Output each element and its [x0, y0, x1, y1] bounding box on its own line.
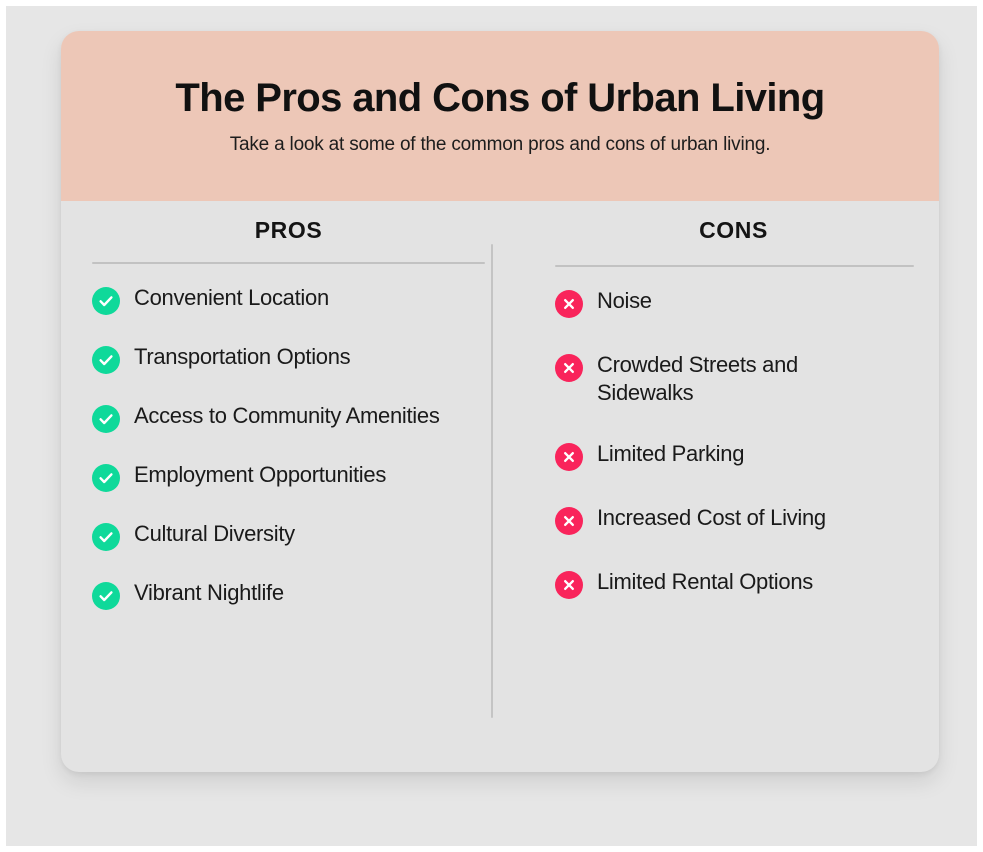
list-item-label: Crowded Streets and Sidewalks [597, 351, 897, 407]
list-item-label: Increased Cost of Living [597, 504, 826, 532]
check-circle-icon [92, 464, 120, 492]
list-item: Increased Cost of Living [555, 504, 922, 535]
list-item: Vibrant Nightlife [92, 579, 485, 610]
pros-column: PROS Convenient Location [61, 201, 500, 772]
page-title: The Pros and Cons of Urban Living [175, 76, 824, 120]
cross-circle-icon [555, 571, 583, 599]
cons-column-heading: CONS [555, 217, 922, 244]
list-item-label: Vibrant Nightlife [134, 579, 284, 607]
list-item-label: Convenient Location [134, 284, 329, 312]
cross-circle-icon [555, 507, 583, 535]
list-item: Access to Community Amenities [92, 402, 485, 433]
list-item-label: Noise [597, 287, 652, 315]
check-circle-icon [92, 582, 120, 610]
list-item: Crowded Streets and Sidewalks [555, 351, 922, 407]
check-circle-icon [92, 287, 120, 315]
cons-column: CONS Noise [500, 201, 939, 772]
page-subtitle: Take a look at some of the common pros a… [230, 134, 771, 157]
pros-cons-card: The Pros and Cons of Urban Living Take a… [61, 31, 939, 772]
cross-circle-icon [555, 443, 583, 471]
pros-list: Convenient Location Transportation Optio… [92, 284, 485, 610]
list-item-label: Limited Parking [597, 440, 744, 468]
list-item: Transportation Options [92, 343, 485, 374]
list-item: Cultural Diversity [92, 520, 485, 551]
cross-circle-icon [555, 354, 583, 382]
list-item: Convenient Location [92, 284, 485, 315]
list-item-label: Access to Community Amenities [134, 402, 440, 430]
check-circle-icon [92, 405, 120, 433]
check-circle-icon [92, 346, 120, 374]
card-body: PROS Convenient Location [61, 201, 939, 772]
list-item-label: Transportation Options [134, 343, 350, 371]
cons-heading-rule [555, 265, 914, 267]
pros-column-heading: PROS [92, 217, 485, 244]
check-circle-icon [92, 523, 120, 551]
pros-heading-rule [92, 262, 485, 264]
card-header: The Pros and Cons of Urban Living Take a… [61, 31, 939, 201]
list-item: Employment Opportunities [92, 461, 485, 492]
list-item: Noise [555, 287, 922, 318]
cons-list: Noise Crowded Streets and Sidewalks [555, 287, 922, 599]
list-item-label: Cultural Diversity [134, 520, 295, 548]
cross-circle-icon [555, 290, 583, 318]
list-item-label: Limited Rental Options [597, 568, 813, 596]
list-item: Limited Parking [555, 440, 922, 471]
list-item-label: Employment Opportunities [134, 461, 386, 489]
list-item: Limited Rental Options [555, 568, 922, 599]
